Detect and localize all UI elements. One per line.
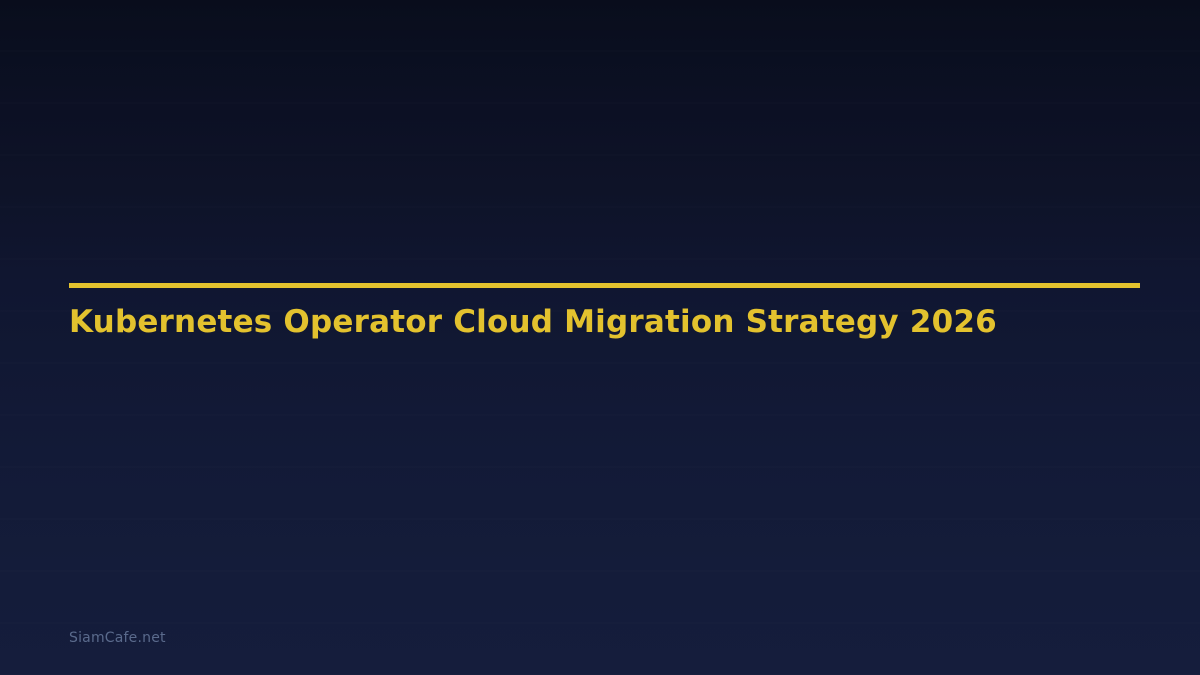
- footer-brand: SiamCafe.net: [69, 630, 166, 646]
- title-block: Kubernetes Operator Cloud Migration Stra…: [69, 283, 1140, 341]
- title-slide: Kubernetes Operator Cloud Migration Stra…: [0, 0, 1200, 675]
- page-title: Kubernetes Operator Cloud Migration Stra…: [69, 288, 1140, 341]
